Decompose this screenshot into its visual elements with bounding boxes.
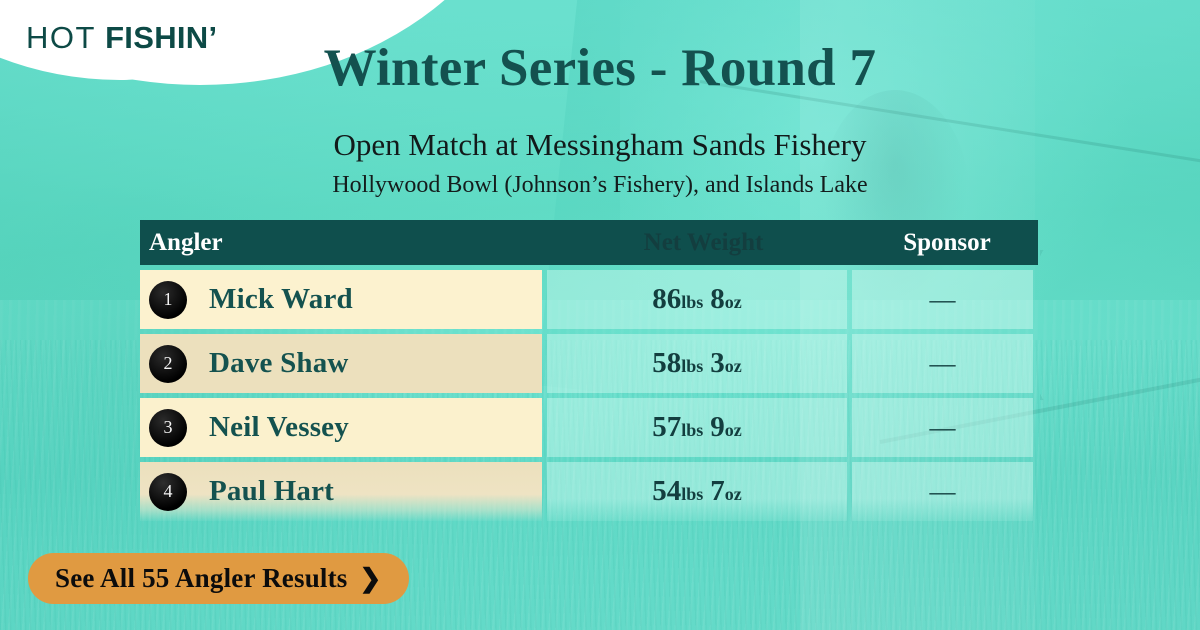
sponsor-value: — <box>930 479 956 505</box>
cell-angler: 4 Paul Hart <box>140 462 542 521</box>
cell-net-weight: 54lbs7oz <box>547 462 847 521</box>
weight-ounces: 9 <box>710 411 725 443</box>
rank-badge: 2 <box>149 345 187 383</box>
weight-ounces: 8 <box>710 283 725 315</box>
column-header-angler: Angler <box>140 229 551 257</box>
weight-pounds: 58 <box>652 347 681 379</box>
weight-ounces: 3 <box>710 347 725 379</box>
cell-angler: 1 Mick Ward <box>140 270 542 329</box>
table-row: 1 Mick Ward 86lbs8oz — <box>140 270 1038 329</box>
angler-name: Dave Shaw <box>209 347 349 380</box>
weight-pounds-unit: lbs <box>681 484 703 504</box>
weight-pounds: 57 <box>652 411 681 443</box>
cell-angler: 2 Dave Shaw <box>140 334 542 393</box>
sponsor-value: — <box>930 415 956 441</box>
column-header-sponsor: Sponsor <box>856 229 1038 257</box>
rank-badge: 4 <box>149 473 187 511</box>
brand-logo-thin: HOT <box>26 20 96 55</box>
cell-net-weight: 57lbs9oz <box>547 398 847 457</box>
weight-pounds: 86 <box>652 283 681 315</box>
sponsor-value: — <box>930 351 956 377</box>
weight-pounds-unit: lbs <box>681 356 703 376</box>
table-row: 4 Paul Hart 54lbs7oz — <box>140 462 1038 521</box>
table-header-row: Angler Net Weight Sponsor <box>140 220 1038 265</box>
page-subtitle: Open Match at Messingham Sands Fishery <box>0 127 1200 163</box>
results-graphic: HOT FISHIN’ Winter Series - Round 7 Open… <box>0 0 1200 630</box>
page-subtitle-secondary: Hollywood Bowl (Johnson’s Fishery), and … <box>0 172 1200 199</box>
net-weight-value: 57lbs9oz <box>652 411 742 444</box>
see-all-results-button[interactable]: See All 55 Angler Results ❯ <box>28 553 409 604</box>
column-header-net-weight: Net Weight <box>551 229 856 257</box>
rank-badge: 1 <box>149 281 187 319</box>
rank-badge: 3 <box>149 409 187 447</box>
brand-logo-bold: FISHIN’ <box>105 20 217 55</box>
weight-ounces: 7 <box>710 475 725 507</box>
weight-pounds-unit: lbs <box>681 420 703 440</box>
weight-ounces-unit: oz <box>725 292 742 312</box>
angler-name: Paul Hart <box>209 475 334 508</box>
cell-sponsor: — <box>852 398 1033 457</box>
sponsor-value: — <box>930 287 956 313</box>
weight-ounces-unit: oz <box>725 356 742 376</box>
net-weight-value: 58lbs3oz <box>652 347 742 380</box>
brand-logo[interactable]: HOT FISHIN’ <box>26 20 217 56</box>
cell-sponsor: — <box>852 270 1033 329</box>
weight-ounces-unit: oz <box>725 484 742 504</box>
net-weight-value: 86lbs8oz <box>652 283 742 316</box>
cell-angler: 3 Neil Vessey <box>140 398 542 457</box>
angler-name: Neil Vessey <box>209 411 349 444</box>
weight-pounds: 54 <box>652 475 681 507</box>
cell-net-weight: 58lbs3oz <box>547 334 847 393</box>
cell-sponsor: — <box>852 462 1033 521</box>
weight-pounds-unit: lbs <box>681 292 703 312</box>
table-row: 3 Neil Vessey 57lbs9oz — <box>140 398 1038 457</box>
angler-name: Mick Ward <box>209 283 353 316</box>
table-row: 2 Dave Shaw 58lbs3oz — <box>140 334 1038 393</box>
weight-ounces-unit: oz <box>725 420 742 440</box>
results-table: Angler Net Weight Sponsor 1 Mick Ward 86… <box>140 220 1038 521</box>
cell-net-weight: 86lbs8oz <box>547 270 847 329</box>
see-all-results-label: See All 55 Angler Results <box>55 563 348 594</box>
chevron-right-icon: ❯ <box>360 564 382 594</box>
cell-sponsor: — <box>852 334 1033 393</box>
net-weight-value: 54lbs7oz <box>652 475 742 508</box>
